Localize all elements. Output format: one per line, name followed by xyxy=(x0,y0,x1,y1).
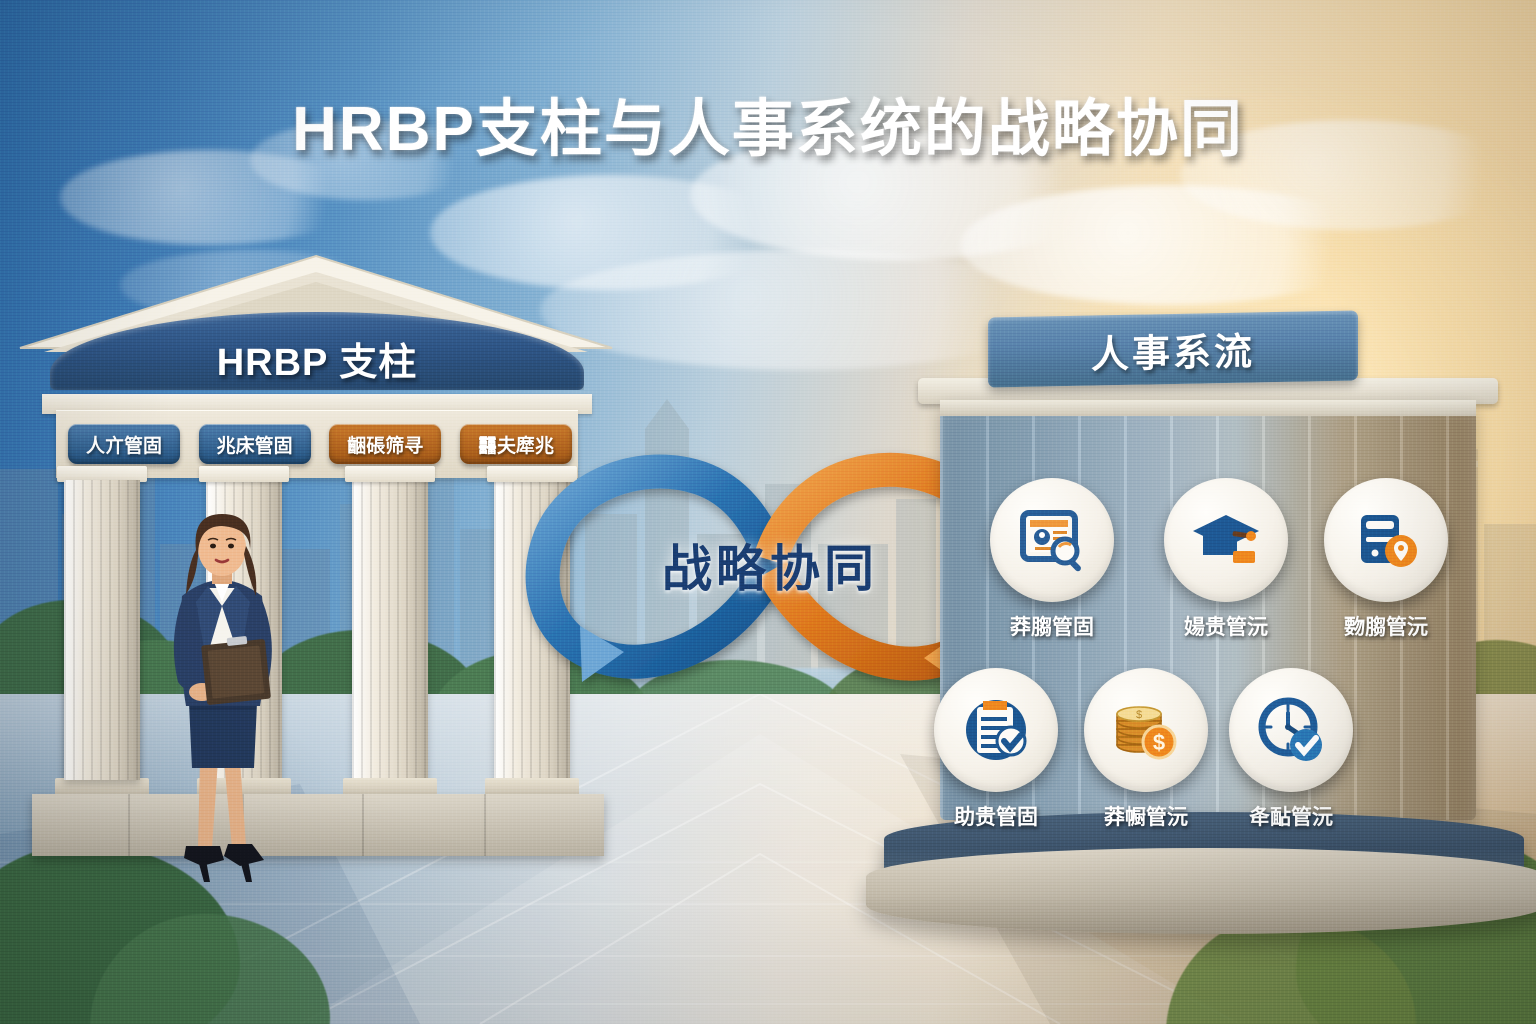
hrbp-badge-2[interactable]: 兆床管固 xyxy=(199,424,311,464)
checklist-approved-icon xyxy=(934,668,1058,792)
hr-module-training[interactable]: 婸贵管沅 xyxy=(1160,478,1292,641)
illustration-canvas: HRBP 支柱 人亣管固 兆床管固 齫䂻筛寻 䨻夫犘兆 xyxy=(0,0,1536,1024)
hr-module-system[interactable]: 覅䐢管沅 xyxy=(1320,478,1452,641)
building-plinth-light xyxy=(866,848,1536,934)
coin-stack-icon: $ $ xyxy=(1084,668,1208,792)
temple-base xyxy=(32,794,604,856)
svg-text:$: $ xyxy=(1153,730,1165,755)
hr-module-label: 莽䐢管固 xyxy=(986,611,1118,641)
hr-module-approval[interactable]: 助贵管固 xyxy=(930,668,1062,831)
hr-module-label: 莽㡡管沅 xyxy=(1080,801,1212,831)
hr-module-resume[interactable]: 莽䐢管固 xyxy=(986,478,1118,641)
server-location-icon xyxy=(1324,478,1448,602)
temple-column xyxy=(352,480,428,780)
resume-search-icon xyxy=(990,478,1114,602)
hrbp-badge-3[interactable]: 齫䂻筛寻 xyxy=(329,424,441,464)
hr-module-label: 婸贵管沅 xyxy=(1160,611,1292,641)
hrbp-badge-1[interactable]: 人亣管固 xyxy=(68,424,180,464)
hr-module-label: 夅䩇管沅 xyxy=(1225,801,1357,831)
hr-system-building: 人事系流 莽䐢管固 xyxy=(900,300,1520,900)
page-title: HRBP支柱与人事系统的战略协同 xyxy=(0,78,1536,168)
svg-text:$: $ xyxy=(1136,709,1142,721)
hr-module-payroll[interactable]: $ $ 莽㡡管沅 xyxy=(1080,668,1212,831)
hr-module-attendance[interactable]: 夅䩇管沅 xyxy=(1225,668,1357,831)
hrbp-badge-row: 人亣管固 兆床管固 齫䂻筛寻 䨻夫犘兆 xyxy=(62,415,578,473)
temple-banner: HRBP 支柱 xyxy=(50,312,584,390)
building-banner-label: 人事系流 xyxy=(1091,320,1255,378)
hr-module-label: 覅䐢管沅 xyxy=(1320,611,1452,641)
building-banner: 人事系流 xyxy=(988,310,1358,387)
clock-check-icon xyxy=(1229,668,1353,792)
hrbp-businesswoman xyxy=(128,510,318,900)
temple-banner-plate: HRBP 支柱 xyxy=(50,312,584,390)
graduation-cap-icon xyxy=(1164,478,1288,602)
building-top-band xyxy=(940,400,1476,416)
temple-banner-label: HRBP 支柱 xyxy=(217,331,418,386)
hr-module-label: 助贵管固 xyxy=(930,801,1062,831)
